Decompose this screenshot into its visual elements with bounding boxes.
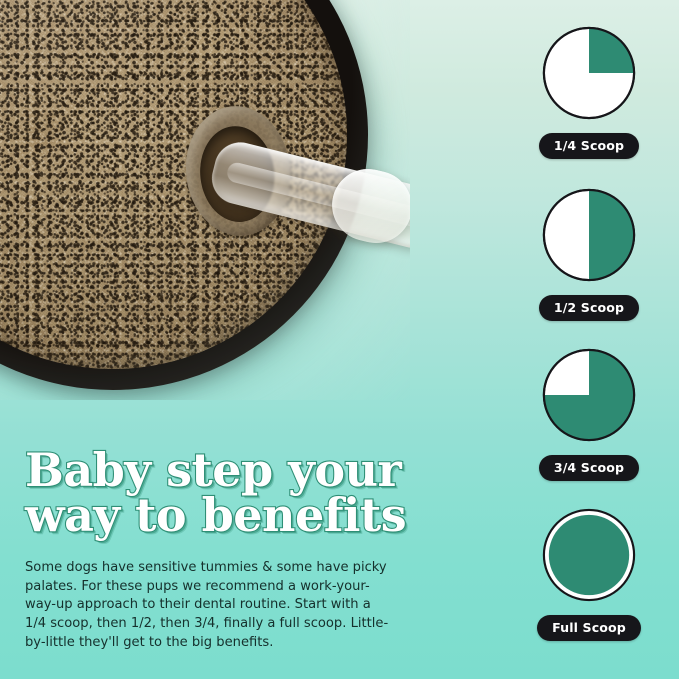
scoop-dial-list: 1/4 Scoop 1/2 Scoop 3/4 Sc xyxy=(499,0,679,679)
quarter-scoop-label: 1/4 Scoop xyxy=(539,133,639,159)
scoop-dosage-infographic: Baby step your way to benefits Some dogs… xyxy=(0,0,679,679)
half-scoop-label: 1/2 Scoop xyxy=(539,295,639,321)
three-quarter-pie-svg xyxy=(540,346,638,444)
full-scoop-dial-icon xyxy=(540,506,638,604)
scoop-dial-three-quarter: 3/4 Scoop xyxy=(499,346,679,481)
quarter-scoop-dial-icon xyxy=(540,24,638,122)
full-pie-svg xyxy=(540,506,638,604)
page-title: Baby step your way to benefits xyxy=(25,448,415,537)
three-quarter-scoop-label: 3/4 Scoop xyxy=(539,455,639,481)
copy-block: Baby step your way to benefits Some dogs… xyxy=(25,448,415,652)
product-photo xyxy=(0,0,410,400)
full-scoop-label: Full Scoop xyxy=(537,615,641,641)
half-scoop-dial-icon xyxy=(540,186,638,284)
body-paragraph: Some dogs have sensitive tummies & some … xyxy=(25,559,393,652)
headline-line-1: Baby step your xyxy=(25,448,415,493)
half-pie-svg xyxy=(540,186,638,284)
scoop-dial-half: 1/2 Scoop xyxy=(499,186,679,321)
scoop-dial-full: Full Scoop xyxy=(499,506,679,641)
quarter-pie-svg xyxy=(540,24,638,122)
three-quarter-scoop-dial-icon xyxy=(540,346,638,444)
headline-line-2: way to benefits xyxy=(25,493,415,538)
scoop-dial-quarter: 1/4 Scoop xyxy=(499,24,679,159)
